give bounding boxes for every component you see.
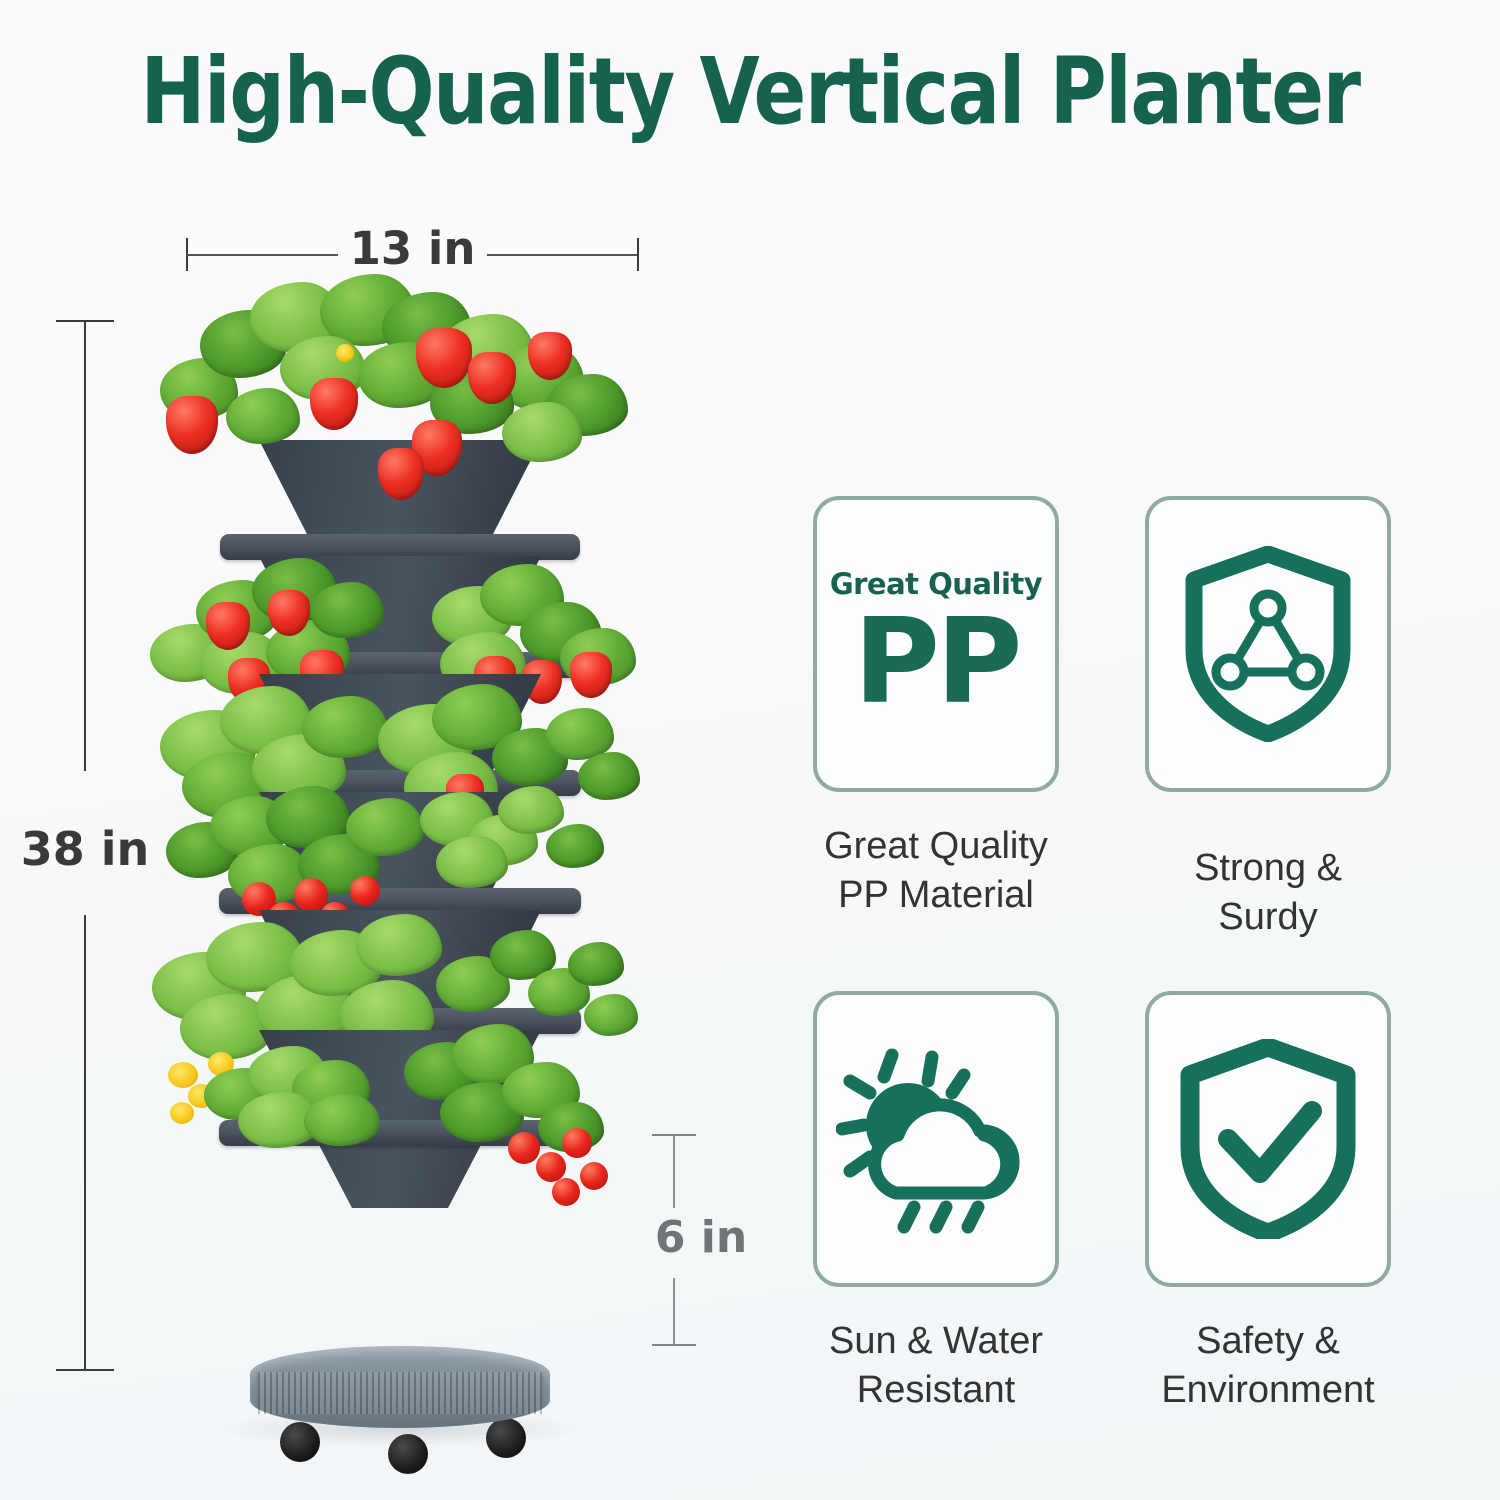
- planter-stack: [150, 250, 650, 1480]
- feature-card-3[interactable]: [813, 991, 1059, 1287]
- feature-caption-4: Safety & Environment: [1161, 1317, 1374, 1416]
- base-tray: [250, 1346, 550, 1428]
- caster-wheel: [388, 1434, 428, 1474]
- feature-safety-environment: Safety & Environment: [1145, 991, 1391, 1416]
- sun-cloud-rain-icon: [836, 1041, 1036, 1237]
- base-dim-cap-bottom: [652, 1344, 696, 1346]
- base-dim-bar-top: [673, 1136, 675, 1208]
- base-tray-ridges: [258, 1372, 542, 1414]
- feature-card-1[interactable]: Great Quality PP: [813, 496, 1059, 792]
- pp-badge-icon: PP: [854, 607, 1019, 716]
- tier-1-foliage: [130, 270, 670, 485]
- page-title: High-Quality Vertical Planter: [45, 44, 1455, 140]
- feature-caption-1: Great Quality PP Material: [824, 822, 1048, 921]
- base-dim-bar-bottom: [673, 1278, 675, 1344]
- tier-6-foliage: [152, 1006, 662, 1186]
- height-dim-cap-bottom: [56, 1369, 114, 1371]
- feature-great-quality-pp: Great Quality PP Great Quality PP Materi…: [813, 496, 1059, 943]
- feature-card-4[interactable]: [1145, 991, 1391, 1287]
- caster-wheel: [280, 1422, 320, 1462]
- feature-strong-sturdy: Strong & Surdy: [1145, 496, 1391, 943]
- height-dim-bar-bottom: [84, 915, 86, 1370]
- height-dim-bar-top: [84, 321, 86, 771]
- caster-wheel: [486, 1418, 526, 1458]
- height-dim-label: 38 in: [0, 822, 170, 876]
- feature-sun-water-resistant: Sun & Water Resistant: [813, 991, 1059, 1416]
- shield-check-icon: [1180, 1039, 1356, 1239]
- feature-card-2[interactable]: [1145, 496, 1391, 792]
- feature-grid: Great Quality PP Great Quality PP Materi…: [792, 496, 1412, 1346]
- shield-molecule-icon: [1184, 546, 1352, 742]
- feature-caption-2: Strong & Surdy: [1145, 844, 1391, 943]
- feature-caption-3: Sun & Water Resistant: [829, 1317, 1043, 1416]
